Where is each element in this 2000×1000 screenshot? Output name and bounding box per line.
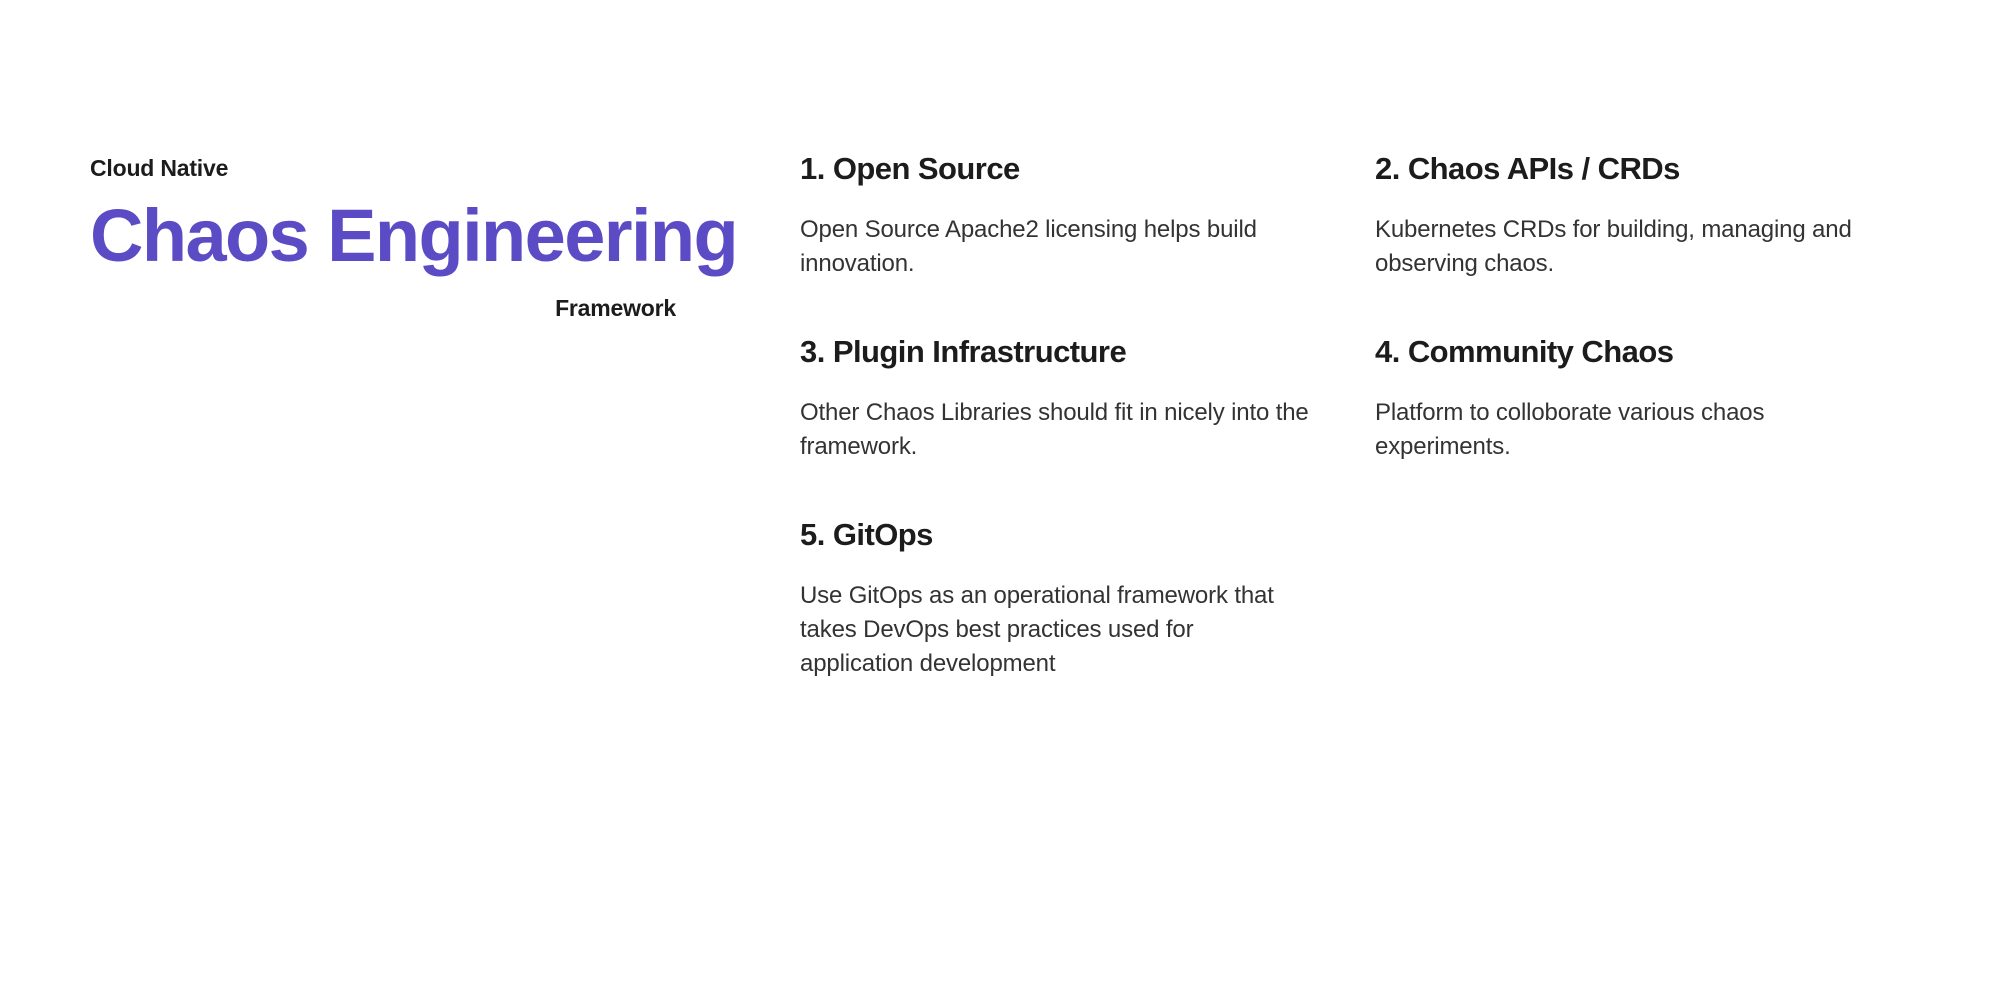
feature-body: Other Chaos Libraries should fit in nice… — [800, 396, 1310, 464]
feature-heading: 4. Community Chaos — [1375, 333, 1885, 372]
feature-heading: 3. Plugin Infrastructure — [800, 333, 1310, 372]
feature-item-1: 1. Open Source Open Source Apache2 licen… — [800, 150, 1310, 281]
feature-body: Kubernetes CRDs for building, managing a… — [1375, 213, 1885, 281]
feature-item-5: 5. GitOps Use GitOps as an operational f… — [800, 516, 1310, 681]
feature-body: Use GitOps as an operational framework t… — [800, 579, 1310, 681]
feature-item-2: 2. Chaos APIs / CRDs Kubernetes CRDs for… — [1375, 150, 1885, 281]
feature-item-4: 4. Community Chaos Platform to collobora… — [1375, 333, 1885, 464]
feature-heading: 5. GitOps — [800, 516, 1310, 555]
page-title: Chaos Engineering — [90, 197, 690, 275]
subtitle-label: Framework — [90, 295, 690, 322]
feature-list: 1. Open Source Open Source Apache2 licen… — [800, 150, 1920, 733]
slide-root: Cloud Native Chaos Engineering Framework… — [0, 0, 2000, 1000]
feature-body: Open Source Apache2 licensing helps buil… — [800, 213, 1310, 281]
feature-body: Platform to colloborate various chaos ex… — [1375, 396, 1885, 464]
feature-item-3: 3. Plugin Infrastructure Other Chaos Lib… — [800, 333, 1310, 464]
eyebrow-label: Cloud Native — [90, 155, 690, 183]
feature-heading: 1. Open Source — [800, 150, 1310, 189]
title-block: Cloud Native Chaos Engineering Framework — [90, 155, 690, 322]
feature-heading: 2. Chaos APIs / CRDs — [1375, 150, 1885, 189]
